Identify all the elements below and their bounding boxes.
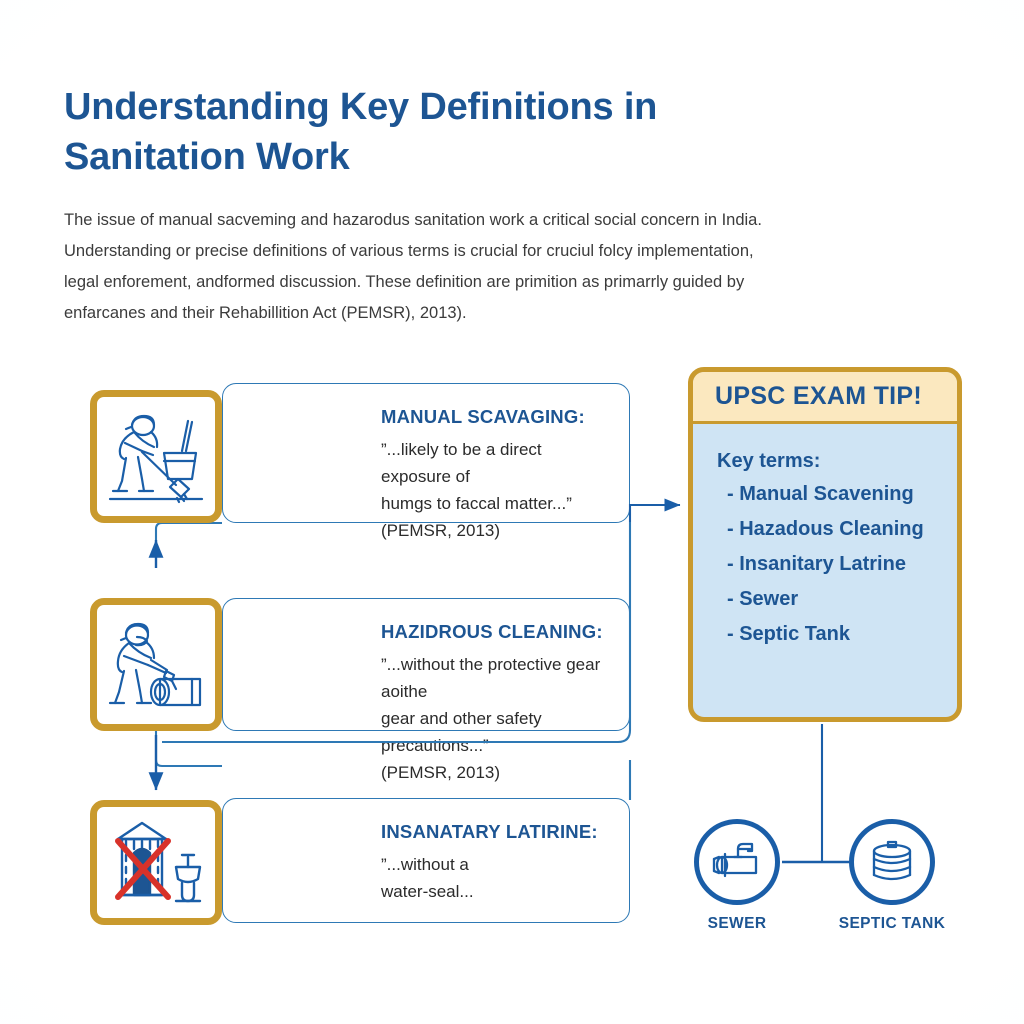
sewer-pipe-icon xyxy=(694,819,780,905)
infographic-canvas: Understanding Key Definitions in Sanitat… xyxy=(0,0,1024,1024)
list-item: - Manual Scavening xyxy=(727,477,957,512)
upsc-panel-header: UPSC EXAM TIP! xyxy=(693,372,957,424)
list-item: - Septic Tank xyxy=(727,617,957,652)
insanitary-latrine-crossed-icon xyxy=(90,800,222,925)
septic-tank-icon xyxy=(849,819,935,905)
list-item: - Sewer xyxy=(727,582,957,617)
upsc-exam-tip-panel[interactable]: UPSC EXAM TIP! Key terms: - Manual Scave… xyxy=(688,367,962,722)
upsc-key-terms-list: - Manual Scavening - Hazadous Cleaning -… xyxy=(727,477,957,652)
worker-sweeping-icon xyxy=(90,390,222,523)
worker-cleaning-pipe-icon xyxy=(90,598,222,731)
upsc-key-terms-label: Key terms: xyxy=(717,450,957,473)
list-item: - Insanitary Latrine xyxy=(727,547,957,582)
list-item: - Hazadous Cleaning xyxy=(727,512,957,547)
